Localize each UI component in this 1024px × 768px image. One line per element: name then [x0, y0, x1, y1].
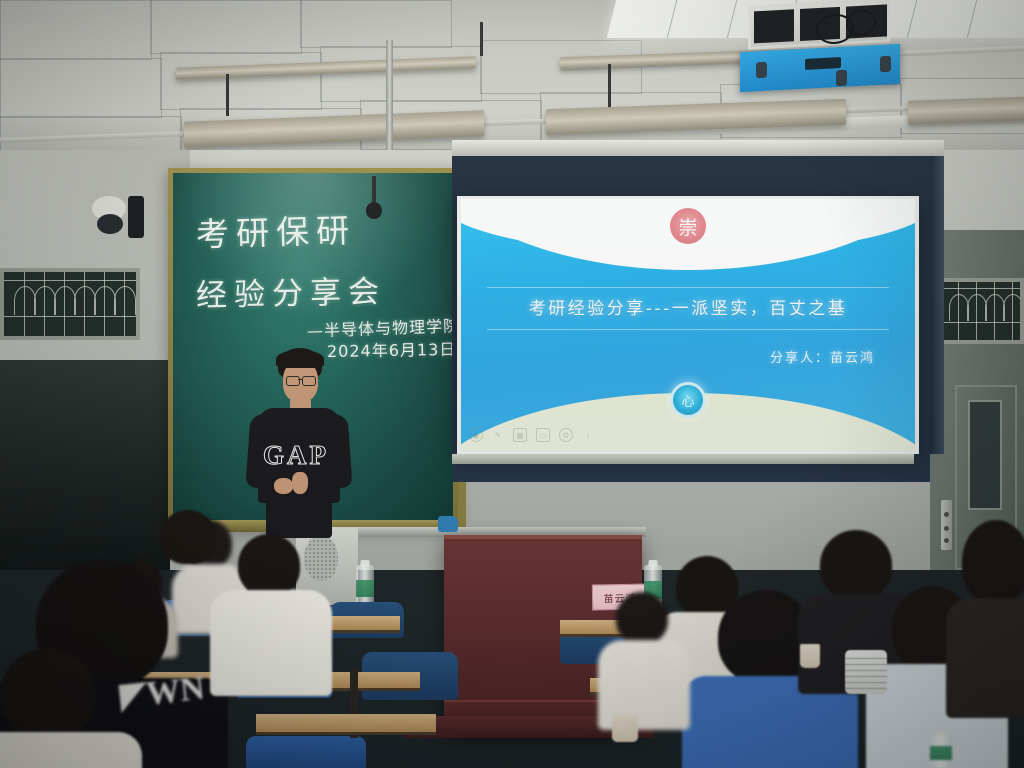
prev-arrow-icon[interactable]: ‹ [582, 429, 594, 441]
console-speaker-grille [304, 535, 338, 581]
water-bottle-front [930, 730, 952, 768]
pointer-icon[interactable]: ◉ [469, 428, 483, 442]
drink-cup-1 [800, 644, 820, 668]
university-emblem-icon: 崇 [670, 208, 706, 244]
glasses-left-icon [286, 376, 300, 386]
wall-speaker [128, 196, 144, 238]
seal-badge-icon: 心 [670, 382, 706, 418]
glasses-right-icon [302, 376, 316, 386]
drink-cup-2 [612, 714, 638, 742]
door-handle-plate[interactable] [941, 500, 952, 550]
shirt-logo: GAP [263, 440, 329, 471]
desk-row-near [256, 714, 436, 735]
grid-icon[interactable]: ▦ [513, 428, 527, 442]
pen-icon[interactable]: ✎ [492, 429, 504, 441]
hanging-microphone [372, 176, 376, 204]
blackboard-line-1: 考研保研 [195, 204, 356, 256]
settings-icon[interactable]: ⚙ [559, 428, 573, 442]
presenter-hand-left [274, 478, 293, 494]
presenter-fringe [276, 350, 324, 368]
screen-icon[interactable]: ▭ [536, 428, 550, 442]
portable-fan[interactable] [845, 650, 887, 694]
screen-housing [452, 140, 944, 156]
presenter-hand-right [292, 472, 308, 494]
projector-foot-left [756, 62, 767, 79]
slide-rule-bottom [487, 329, 889, 330]
projector-foot-mid [836, 70, 847, 87]
slide-rule-top [487, 287, 889, 288]
left-doorway-dark [0, 360, 170, 570]
presenter: GAP [236, 348, 356, 538]
presenter-lower-body [266, 498, 332, 538]
seat-near-1[interactable] [246, 736, 366, 768]
blackboard-line-2: 经验分享会 [196, 266, 387, 315]
glasses-bridge-icon [298, 379, 302, 380]
water-bottle-console [356, 560, 374, 608]
door-panel [968, 400, 1002, 510]
blue-object-on-ledge [438, 516, 458, 532]
left-lattice-window [0, 268, 140, 340]
screen-right-edge [930, 152, 944, 454]
slide-title: 考研经验分享---一派坚实，百丈之基 [461, 294, 915, 319]
presentation-slide: 崇 考研经验分享---一派坚实，百丈之基 分享人：苗云鸿 心 ◉ ✎ ▦ ▭ ⚙… [461, 199, 915, 451]
support-pole [386, 40, 393, 150]
right-lattice-window [936, 278, 1024, 344]
screen-bottom-bar [452, 454, 914, 464]
projector-foot-right [880, 56, 891, 73]
projector-lens [805, 57, 841, 70]
dome-camera-lens [97, 214, 123, 234]
lecture-hall-photo: 考研保研 经验分享会 —半导体与物理学院 2024年6月13日 崇 考研经验分享… [0, 0, 1024, 768]
slide-presenter-name: 分享人：苗云鸿 [770, 347, 875, 366]
presenter-toolbar[interactable]: ◉ ✎ ▦ ▭ ⚙ ‹ [469, 428, 594, 442]
ceiling-light-far-right [908, 95, 1024, 125]
